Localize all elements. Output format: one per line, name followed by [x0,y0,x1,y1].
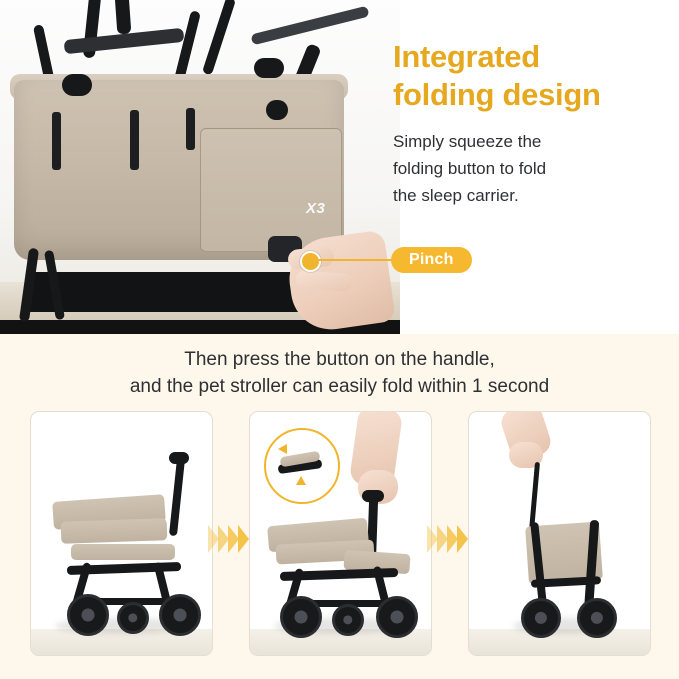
hero-title-line-2: folding design [393,76,673,114]
carrier-strap-1 [52,112,61,170]
card-1-wheel-rear [159,594,201,636]
hero-product-photo: X3 [0,0,400,334]
product-infographic-page: X3 Pinch Integrated folding desi [0,0,679,679]
band-heading: Then press the button on the handle, and… [0,346,679,400]
card-2-wheel-front [280,596,322,638]
card-1-handle-grip [169,452,189,464]
hero-title: Integrated folding design [393,38,673,114]
frame-tube-handle-right [115,0,132,34]
carrier-front-pocket [200,128,342,252]
card-1-wheel-front [67,594,109,636]
arrow-up-icon [296,476,306,485]
hero-title-line-1: Integrated [393,38,673,76]
carrier-latch-center [266,100,288,120]
card-2-wheel-rear [376,596,418,638]
chevron-icon [457,525,468,553]
carrier-strap-3 [186,108,195,150]
index-finger-graphic [295,270,352,292]
card-1-handle-post [169,458,185,536]
card-2-wheel-mid [332,604,364,636]
step-arrow-2 [427,525,467,553]
step-card-1 [30,411,213,656]
hero-subtitle-line-2: folding button to fold [393,155,653,182]
hero-subtitle-line-3: the sleep carrier. [393,182,653,209]
card-1-seat-pad [71,544,175,560]
card-1-fabric-stack-2 [61,518,168,544]
under-basket [24,272,318,312]
band-heading-line-2: and the pet stroller can easily fold wit… [0,373,679,400]
pinch-leader-line [317,259,393,261]
step-arrow-1 [208,525,248,553]
hero-section: X3 Pinch Integrated folding desi [0,0,679,334]
hero-subtitle: Simply squeeze the folding button to fol… [393,128,653,209]
step-card-3 [468,411,651,656]
arrow-left-icon [278,444,287,454]
pinch-target-dot [300,251,321,272]
carrier-knob-left [62,74,92,96]
product-logo: X3 [306,200,325,217]
card-2-handle-grip [362,490,384,502]
card-1-wheel-mid [117,602,149,634]
carrier-knob-right [254,58,284,78]
hero-subtitle-line-1: Simply squeeze the [393,128,653,155]
chevron-icon [238,525,249,553]
card-3-wheel-front [521,598,561,638]
band-heading-line-1: Then press the button on the handle, [0,346,679,373]
carrier-strap-2 [130,110,139,170]
pinch-callout-badge: Pinch [391,247,472,273]
step-card-2 [249,411,432,656]
card-3-wheel-rear [577,598,617,638]
